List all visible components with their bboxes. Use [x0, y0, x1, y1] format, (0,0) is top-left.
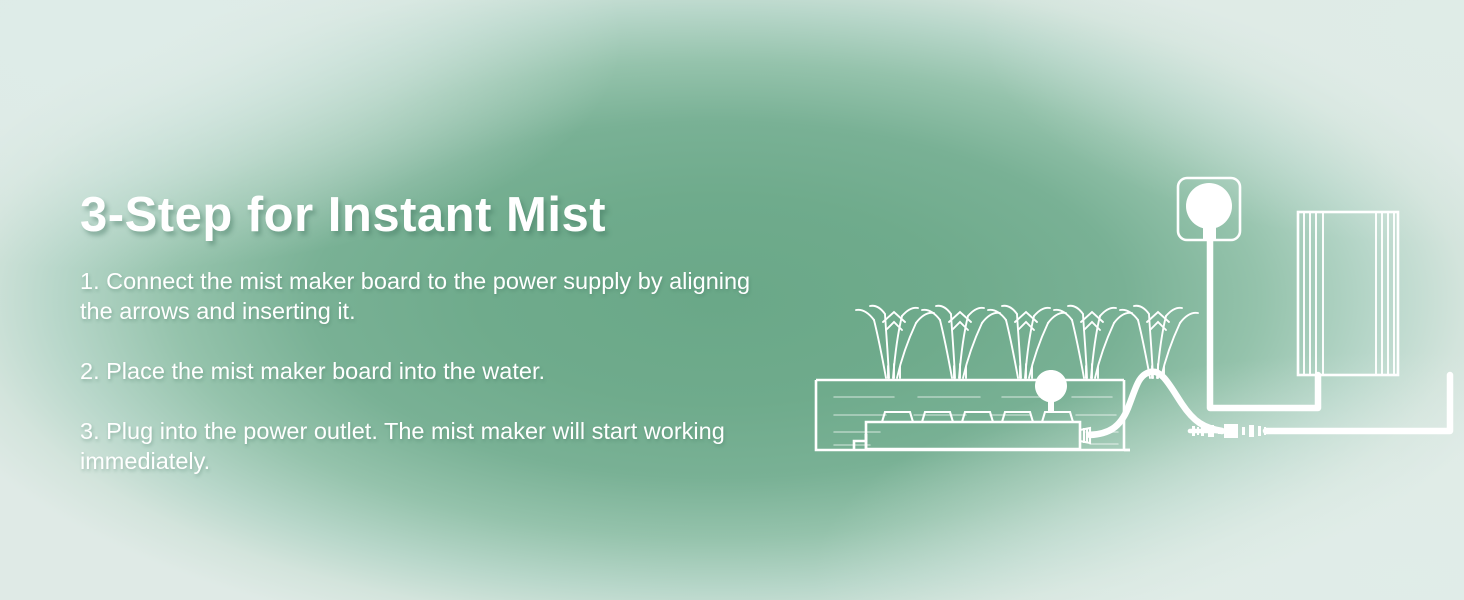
mist-spray-1 [856, 306, 934, 378]
cooling-fins [1304, 212, 1394, 375]
power-cable [1210, 222, 1318, 408]
water-tank [816, 380, 1130, 450]
instruction-banner: 3-Step for Instant Mist 1. Connect the m… [0, 0, 1464, 600]
step-item-1: 1. Connect the mist maker board to the p… [80, 266, 760, 326]
dc-connector [1190, 424, 1266, 438]
float-sensor [1035, 370, 1067, 412]
wall-plug [1186, 183, 1232, 240]
wall-outlet [1178, 178, 1240, 240]
mist-spray-2 [922, 306, 1000, 378]
mist-spray-group [856, 306, 1198, 378]
step-item-2: 2. Place the mist maker board into the w… [80, 356, 760, 386]
supply-output-cable [1266, 375, 1450, 431]
ultrasonic-disc-group [882, 412, 1073, 422]
text-column: 3-Step for Instant Mist 1. Connect the m… [80, 186, 780, 476]
mist-maker-board [854, 370, 1090, 449]
mist-spray-4 [1054, 306, 1132, 378]
step-item-3: 3. Plug into the power outlet. The mist … [80, 416, 760, 476]
mist-spray-5 [1120, 306, 1198, 378]
page-title: 3-Step for Instant Mist [80, 186, 780, 244]
step-list: 1. Connect the mist maker board to the p… [80, 266, 780, 476]
mist-spray-3 [988, 306, 1066, 378]
power-supply-unit [1298, 212, 1398, 375]
mist-maker-setup-diagram [790, 160, 1430, 480]
